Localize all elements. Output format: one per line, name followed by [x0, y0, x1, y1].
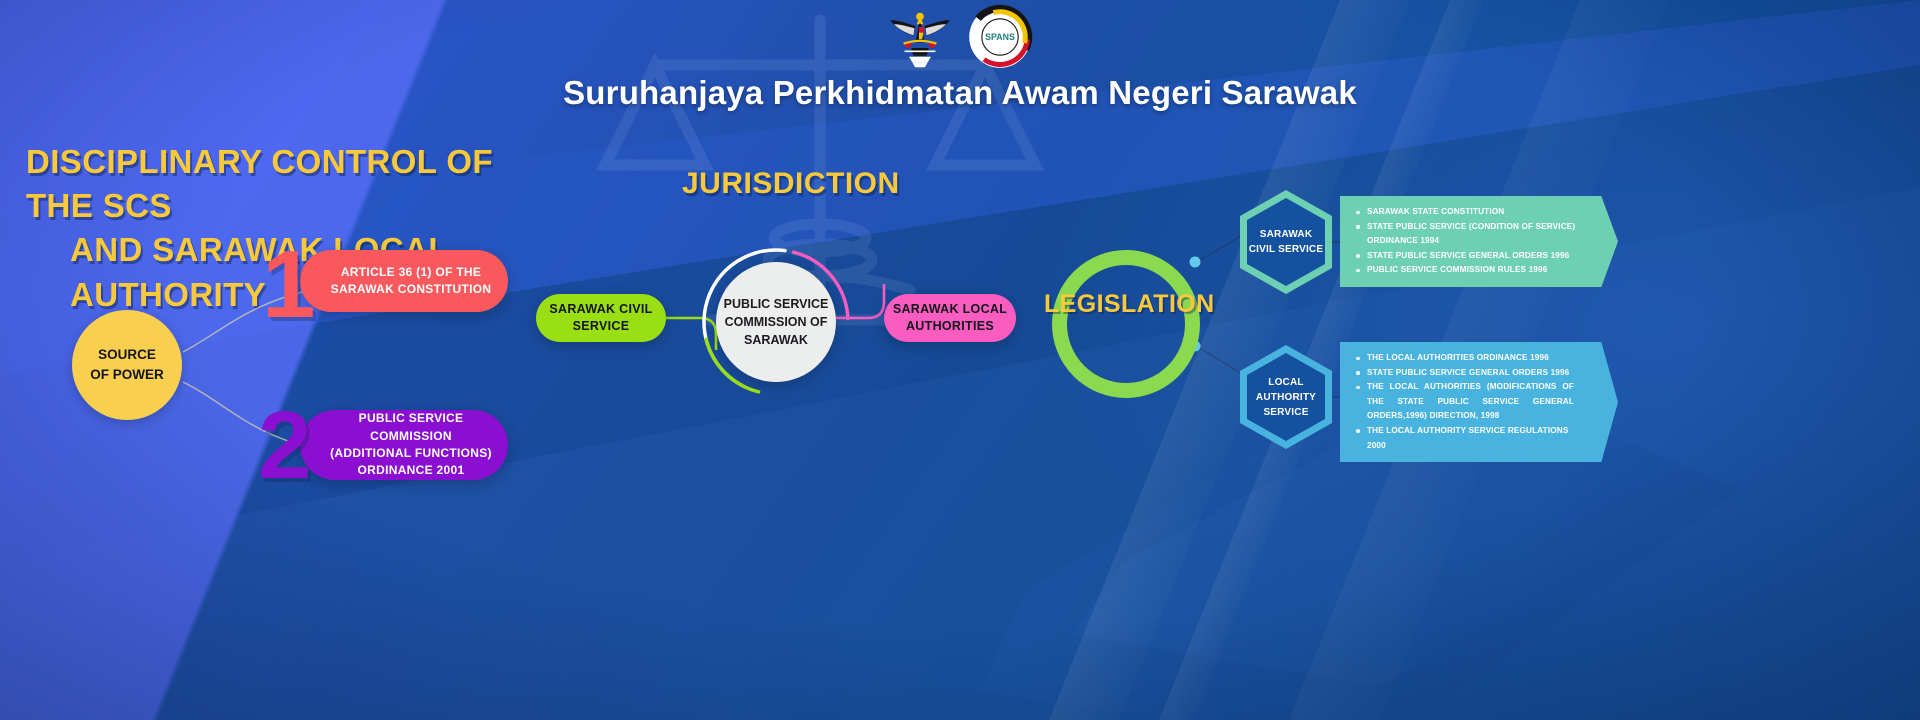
logo-row: SPANS [0, 4, 1920, 70]
jurisdiction-center-label: PUBLIC SERVICE COMMISSION OF SARAWAK [716, 295, 836, 349]
spans-wordmark: SPANS [985, 32, 1015, 42]
legislation-label: LEGISLATION [1044, 290, 1208, 319]
spans-logo-icon: SPANS [967, 4, 1033, 70]
legislation-list-sarawak-civil-service: SARAWAK STATE CONSTITUTION STATE PUBLIC … [1340, 196, 1618, 287]
step-number-1: 1 [262, 237, 315, 333]
page-title: Suruhanjaya Perkhidmatan Awam Negeri Sar… [0, 74, 1920, 112]
list-item: THE LOCAL AUTHORITY SERVICE REGULATIONS … [1354, 424, 1578, 453]
list-item: STATE PUBLIC SERVICE GENERAL ORDERS 1996 [1354, 366, 1578, 381]
jurisdiction-sarawak-local-authorities[interactable]: SARAWAK LOCAL AUTHORITIES [884, 294, 1016, 342]
legislation-list-local-authority-service: THE LOCAL AUTHORITIES ORDINANCE 1996 STA… [1340, 342, 1618, 462]
list-item: SARAWAK STATE CONSTITUTION [1354, 205, 1578, 220]
source-of-power-line-2: OF POWER [90, 365, 164, 385]
infographic-canvas: SPANS Suruhanjaya Perkhidmatan Awam Nege… [0, 0, 1920, 720]
source-item-psc-ordinance[interactable]: PUBLIC SERVICE COMMISSION (ADDITIONAL FU… [300, 410, 508, 480]
jurisdiction-heading: JURISDICTION [682, 167, 882, 201]
page-header: SPANS Suruhanjaya Perkhidmatan Awam Nege… [0, 4, 1920, 112]
source-of-power-line-1: SOURCE [98, 345, 156, 365]
source-item-article-36[interactable]: ARTICLE 36 (1) OF THE SARAWAK CONSTITUTI… [300, 250, 508, 312]
list-item: THE LOCAL AUTHORITIES (MODIFICATIONS OF … [1354, 380, 1578, 424]
jurisdiction-sarawak-civil-service[interactable]: SARAWAK CIVIL SERVICE [536, 294, 666, 342]
legislation-ring[interactable] [1052, 250, 1200, 398]
step-number-2: 2 [258, 398, 311, 494]
list-item: STATE PUBLIC SERVICE (CONDITION OF SERVI… [1354, 220, 1578, 249]
hexagon-label-sarawak-civil-service: SARAWAK CIVIL SERVICE [1247, 198, 1325, 286]
hexagon-label-local-authority-service: LOCAL AUTHORITY SERVICE [1247, 353, 1325, 441]
main-heading-line-1: DISCIPLINARY CONTROL OF THE SCS [26, 143, 493, 224]
list-item: STATE PUBLIC SERVICE GENERAL ORDERS 1996 [1354, 249, 1578, 264]
sarawak-state-crest-icon [887, 4, 953, 70]
list-item: THE LOCAL AUTHORITIES ORDINANCE 1996 [1354, 351, 1578, 366]
list-item: PUBLIC SERVICE COMMISSION RULES 1996 [1354, 263, 1578, 278]
jurisdiction-center-circle[interactable]: PUBLIC SERVICE COMMISSION OF SARAWAK [716, 262, 836, 382]
source-of-power-circle[interactable]: SOURCE OF POWER [72, 310, 182, 420]
